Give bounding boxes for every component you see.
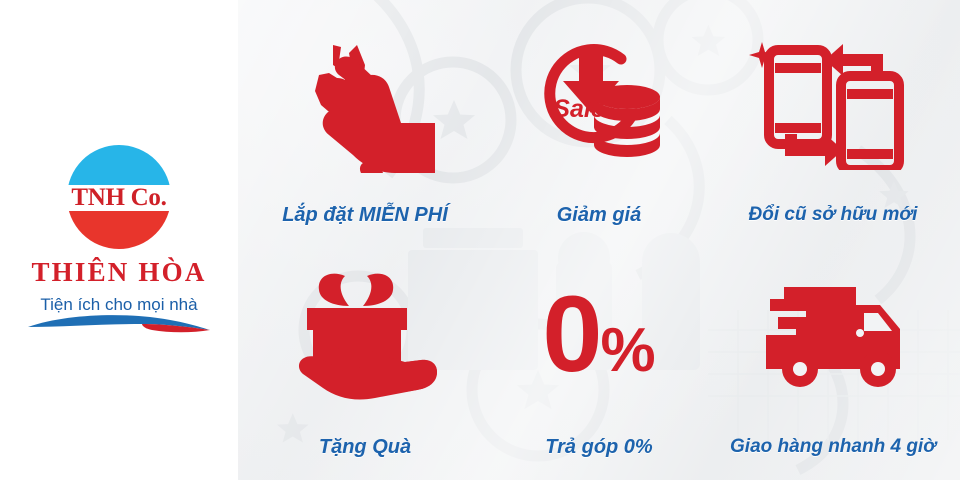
benefit-installment[interactable]: 0 % Trả góp 0% <box>482 238 716 470</box>
benefit-gift[interactable]: Tặng Quà <box>248 238 482 470</box>
logo-mark-text: TNH Co. <box>61 182 177 214</box>
brand-logo: TNH Co. THIÊN HÒA Tiện ích cho mọi nhà <box>14 145 224 335</box>
percent-symbol: % <box>600 323 655 379</box>
promo-banner: TNH Co. THIÊN HÒA Tiện ích cho mọi nhà <box>0 0 960 480</box>
zero-percent-icon: 0 % <box>482 238 716 430</box>
benefit-label: Lắp đặt MIỄN PHÍ <box>282 204 448 226</box>
benefit-trade-in[interactable]: Đổi cũ sở hữu mới <box>716 6 950 238</box>
benefit-discount[interactable]: Sale Giảm giá <box>482 6 716 238</box>
benefit-label: Giảm giá <box>557 204 641 226</box>
brand-logo-panel: TNH Co. THIÊN HÒA Tiện ích cho mọi nhà <box>0 0 238 480</box>
benefit-label: Tặng Quà <box>319 436 411 458</box>
sale-coins-icon: Sale <box>482 6 716 198</box>
benefits-grid: Lắp đặt MIỄN PHÍ Sale <box>238 0 960 480</box>
hand-gift-icon <box>248 238 482 430</box>
delivery-truck-icon <box>716 238 950 431</box>
benefit-fast-delivery[interactable]: Giao hàng nhanh 4 giờ <box>716 238 950 470</box>
benefits-panel: Lắp đặt MIỄN PHÍ Sale <box>238 0 960 480</box>
brand-tagline: Tiện ích cho mọi nhà <box>40 295 197 315</box>
benefit-label: Đổi cũ sở hữu mới <box>749 205 918 226</box>
zero-digit: 0 <box>542 285 598 382</box>
hand-wrench-icon <box>248 6 482 198</box>
benefit-label: Giao hàng nhanh 4 giờ <box>730 437 936 458</box>
benefit-label: Trả góp 0% <box>545 436 652 458</box>
swoosh-icon <box>24 313 214 335</box>
brand-name: THIÊN HÒA <box>31 257 206 288</box>
circle-logo-icon: TNH Co. <box>67 145 171 249</box>
benefit-free-installation[interactable]: Lắp đặt MIỄN PHÍ <box>248 6 482 238</box>
phone-exchange-icon <box>716 6 950 199</box>
